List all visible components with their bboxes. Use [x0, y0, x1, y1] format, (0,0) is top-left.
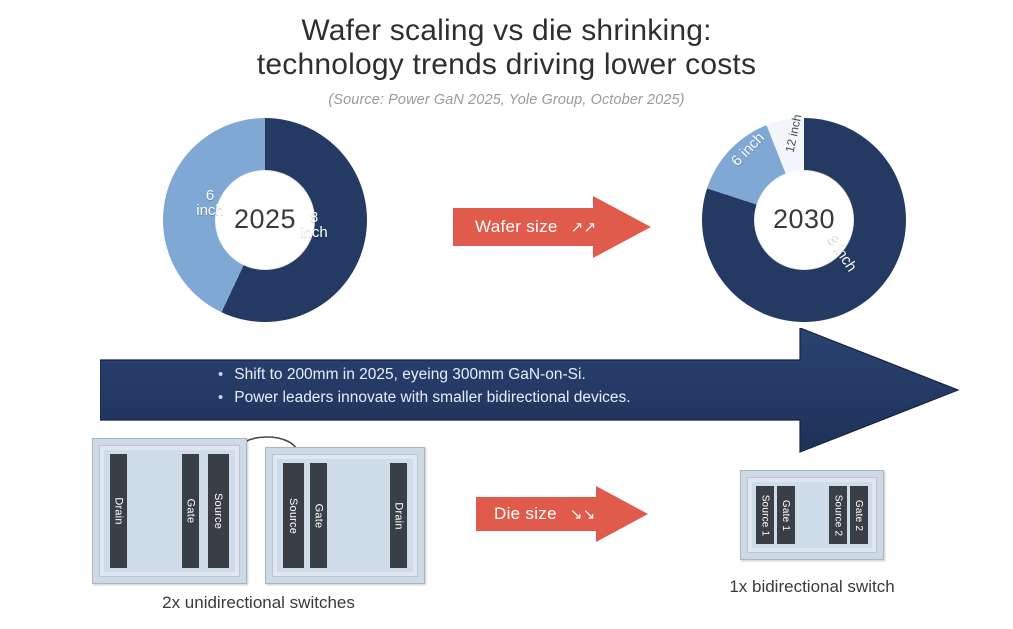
- die-1-pad-drain: Drain: [110, 454, 127, 568]
- die-bi-pad-source-1-label: Source 1: [760, 494, 771, 536]
- page-title: Wafer scaling vs die shrinking: technolo…: [0, 14, 1013, 82]
- die-bi-pad-gate-2-label: Gate 2: [854, 499, 865, 530]
- die-1-inner-frame: Drain Gate Source: [99, 445, 240, 577]
- die-trend-down-icon: ↘↘: [570, 506, 596, 523]
- wafer-size-arrow: Wafer size ↗↗: [453, 196, 651, 258]
- donut-2025-label-6inch: 6 inch: [187, 188, 233, 218]
- die-bi-inner-frame: Source 1 Gate 1 Source 2 Gate 2: [747, 477, 877, 553]
- left-device-caption: 2x unidirectional switches: [92, 593, 425, 613]
- infographic-slide: Wafer scaling vs die shrinking: technolo…: [0, 0, 1013, 629]
- die-bi-pad-source-2: Source 2: [829, 486, 847, 544]
- bullet-glyph-icon: •: [218, 363, 223, 386]
- donut-2025-label-8inch: 8 inch: [291, 210, 337, 240]
- die-1-pad-gate-label: Gate: [185, 499, 197, 524]
- die-1-pad-drain-label: Drain: [113, 497, 125, 524]
- title-line-2: technology trends driving lower costs: [0, 48, 1013, 82]
- die-1-pad-source-label: Source: [213, 493, 225, 529]
- die-2-body: Source Gate Drain: [277, 459, 413, 572]
- die-size-arrow: Die size ↘↘: [476, 486, 648, 542]
- banner-bullet-text-1: Shift to 200mm in 2025, eyeing 300mm GaN…: [234, 363, 586, 386]
- die-bi-body: Source 1 Gate 1 Source 2 Gate 2: [752, 482, 872, 548]
- die-bi-pad-gate-2: Gate 2: [850, 486, 868, 544]
- donut-chart-2030: 2030 8 inch 6 inch 12 inch: [702, 118, 906, 322]
- die-bi-pad-source-1: Source 1: [756, 486, 774, 544]
- die-size-text: Die size: [494, 504, 557, 523]
- donut-chart-2025: 2025 8 inch 6 inch: [163, 118, 367, 322]
- banner-bullet-text-2: Power leaders innovate with smaller bidi…: [234, 386, 630, 409]
- donut-2025-year: 2025: [234, 204, 296, 235]
- banner-bullet-list: • Shift to 200mm in 2025, eyeing 300mm G…: [218, 363, 818, 409]
- die-2-inner-frame: Source Gate Drain: [272, 454, 418, 577]
- title-line-1: Wafer scaling vs die shrinking:: [301, 14, 711, 47]
- die-bi-pad-gate-1-label: Gate 1: [781, 499, 792, 530]
- die-1-body: Drain Gate Source: [104, 450, 235, 572]
- die-2-pad-gate: Gate: [310, 463, 327, 568]
- die-bi-pad-source-2-label: Source 2: [833, 494, 844, 536]
- banner-bullet-item-1: • Shift to 200mm in 2025, eyeing 300mm G…: [218, 363, 818, 386]
- die-2-pad-drain-label: Drain: [393, 502, 405, 529]
- right-device-caption: 1x bidirectional switch: [672, 577, 952, 597]
- die-bidirectional: Source 1 Gate 1 Source 2 Gate 2: [740, 470, 884, 560]
- source-subtitle: (Source: Power GaN 2025, Yole Group, Oct…: [0, 92, 1013, 108]
- die-unidirectional-1: Drain Gate Source: [92, 438, 247, 584]
- die-1-pad-source: Source: [208, 454, 229, 568]
- banner-bullet-item-2: • Power leaders innovate with smaller bi…: [218, 386, 818, 409]
- die-2-pad-drain: Drain: [390, 463, 407, 568]
- bullet-glyph-icon: •: [218, 386, 223, 409]
- die-unidirectional-2: Source Gate Drain: [265, 447, 425, 584]
- die-2-pad-source: Source: [283, 463, 304, 568]
- donut-2030-ring: 2030: [702, 118, 906, 322]
- wafer-size-label: Wafer size ↗↗: [475, 217, 596, 237]
- die-2-pad-source-label: Source: [288, 497, 300, 533]
- wafer-size-text: Wafer size: [475, 217, 558, 236]
- die-size-label: Die size ↘↘: [494, 504, 596, 524]
- wafer-trend-up-icon: ↗↗: [571, 219, 597, 236]
- die-bi-pad-gate-1: Gate 1: [777, 486, 795, 544]
- die-2-pad-gate-label: Gate: [313, 503, 325, 528]
- die-1-pad-gate: Gate: [182, 454, 199, 568]
